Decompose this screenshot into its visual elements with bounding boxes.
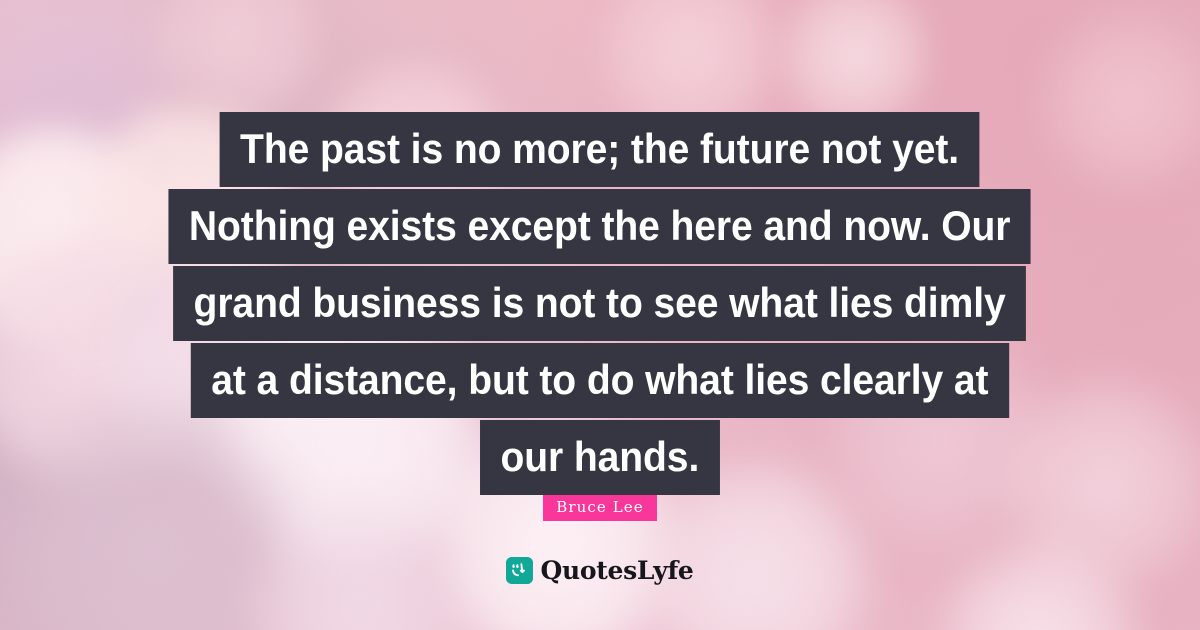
quote-line-text: our hands. [480, 420, 720, 495]
quote-line-text: Nothing exists except the here and now. … [169, 189, 1031, 264]
brand-logo[interactable]: QuotesLyfe [0, 557, 1200, 584]
quote-line: grand business is not to see what lies d… [0, 266, 1200, 341]
quote-card: The past is no more; the future not yet.… [0, 0, 1200, 630]
quote-bubble-icon [506, 557, 533, 584]
author-name[interactable]: Bruce Lee [543, 495, 657, 521]
quote-line: Nothing exists except the here and now. … [0, 189, 1200, 264]
quote-line: our hands. [0, 420, 1200, 495]
quote-line: at a distance, but to do what lies clear… [0, 343, 1200, 418]
quote-line-text: at a distance, but to do what lies clear… [191, 343, 1009, 418]
quote-line-text: grand business is not to see what lies d… [174, 266, 1027, 341]
quote-line: The past is no more; the future not yet. [0, 112, 1200, 187]
quote-text: The past is no more; the future not yet.… [0, 112, 1200, 497]
brand-name: QuotesLyfe [540, 558, 693, 583]
author-attribution: Bruce Lee [0, 495, 1200, 521]
quote-line-text: The past is no more; the future not yet. [220, 112, 980, 187]
